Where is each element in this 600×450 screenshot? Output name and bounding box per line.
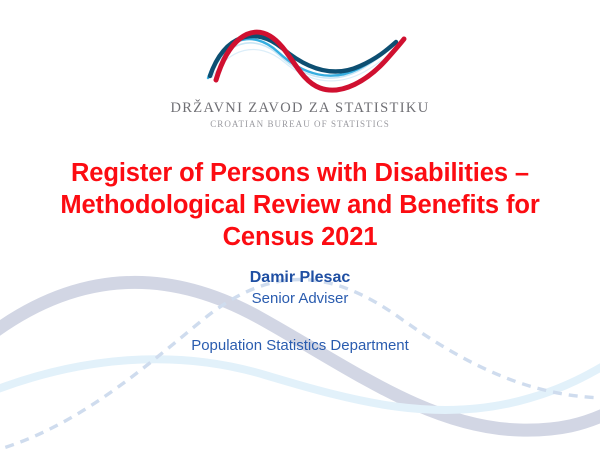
presenter-info: Damir Plesac Senior Adviser xyxy=(0,267,600,309)
title-line-2: Methodological Review and Benefits for xyxy=(24,189,576,221)
logo-organization-name-english: CROATIAN BUREAU OF STATISTICS xyxy=(0,119,600,129)
presenter-name: Damir Plesac xyxy=(0,267,600,288)
page-title: Register of Persons with Disabilities – … xyxy=(24,157,576,253)
logo-strand-red xyxy=(216,32,404,90)
title-line-1: Register of Persons with Disabilities – xyxy=(24,157,576,189)
wave-logo-icon xyxy=(188,22,412,96)
logo-organization-name: DRŽAVNI ZAVOD ZA STATISTIKU xyxy=(0,100,600,117)
presenter-role: Senior Adviser xyxy=(0,288,600,309)
presenter-department: Population Statistics Department xyxy=(0,337,600,354)
presentation-title-slide: DRŽAVNI ZAVOD ZA STATISTIKU CROATIAN BUR… xyxy=(0,0,600,450)
title-line-3: Census 2021 xyxy=(24,221,576,253)
wave-lightblue-thin xyxy=(0,359,600,410)
organization-logo: DRŽAVNI ZAVOD ZA STATISTIKU CROATIAN BUR… xyxy=(0,22,600,129)
